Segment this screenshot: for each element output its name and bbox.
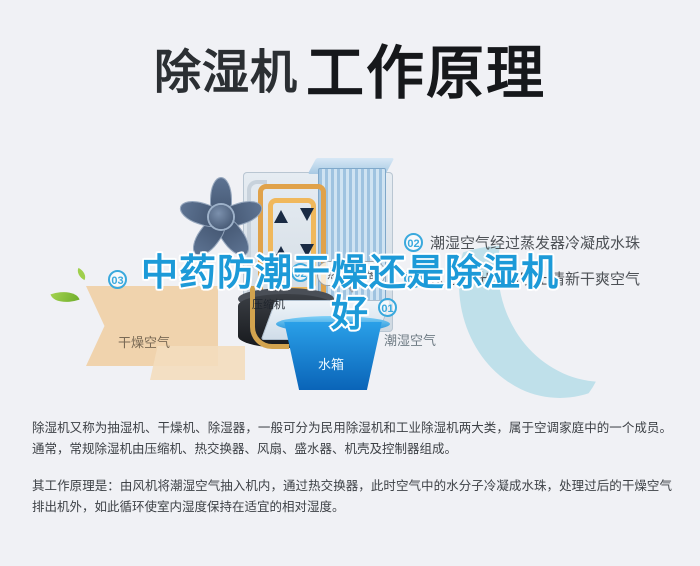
dry-air-arrow-tail: [150, 346, 245, 380]
callout-02-badge-wrap: 02: [291, 263, 310, 282]
page-title-primary: 除湿机: [154, 46, 298, 99]
infographic-page: 除湿机工作原理: [0, 0, 700, 566]
body-paragraph-2: 其工作原理是：由风机将潮湿空气抽入机内，通过热交换器，此时空气中的水分子冷凝成水…: [32, 476, 672, 518]
airflow-arrow-down-icon: [300, 244, 314, 257]
step-text: 从上部出风口吹出清新干爽空气: [430, 268, 640, 289]
callout-01-text: 潮湿空气: [384, 330, 436, 349]
callout-03-badge: 03: [108, 270, 127, 289]
step-badge: 02: [404, 233, 423, 252]
step-badge: 03: [404, 269, 423, 288]
water-tank-label: 水箱: [318, 354, 344, 373]
callout-03-text: 干燥空气: [118, 332, 170, 351]
airflow-arrow-up-icon: [274, 246, 288, 259]
compressor-label: 压缩机: [252, 296, 285, 312]
heat-exchanger-callout-bubble: 热交换器: [317, 261, 385, 286]
airflow-arrow-up-icon: [274, 210, 288, 223]
callout-01-badge: 01: [378, 298, 397, 317]
page-title: 除湿机工作原理: [0, 26, 700, 110]
callout-01-badge-wrap: 01: [378, 298, 397, 317]
callout-03-badge-wrap: 03: [108, 270, 127, 289]
airflow-arrow-down-icon: [300, 208, 314, 221]
fan-icon: [178, 174, 264, 260]
list-item: 02 潮湿空气经过蒸发器冷凝成水珠: [404, 232, 694, 253]
list-item: 03 从上部出风口吹出清新干爽空气: [404, 268, 694, 289]
principle-step-list: 02 潮湿空气经过蒸发器冷凝成水珠 03 从上部出风口吹出清新干爽空气: [404, 232, 694, 304]
page-title-secondary: 工作原理: [306, 41, 546, 106]
fan-hub: [209, 205, 233, 229]
callout-02-badge: 02: [291, 263, 310, 282]
article-body: 除湿机又称为抽湿机、干燥机、除湿器，一般可分为民用除湿机和工业除湿机两大类，属于…: [32, 418, 672, 534]
leaf-icon: [75, 268, 88, 280]
body-paragraph-1: 除湿机又称为抽湿机、干燥机、除湿器，一般可分为民用除湿机和工业除湿机两大类，属于…: [32, 418, 672, 460]
step-text: 潮湿空气经过蒸发器冷凝成水珠: [430, 232, 640, 253]
leaf-icon: [50, 286, 79, 307]
